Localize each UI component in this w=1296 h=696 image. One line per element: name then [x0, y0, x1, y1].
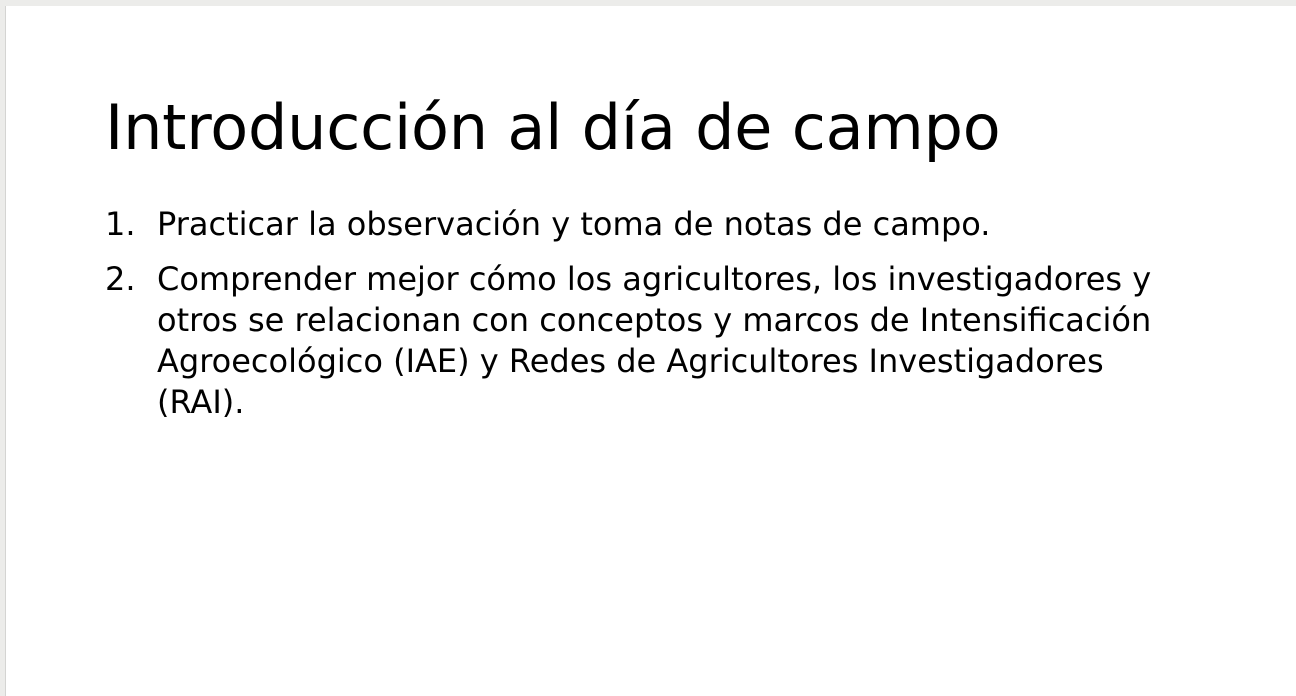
list-item-marker: 1. [105, 204, 145, 245]
list-item: 2. Comprender mejor cómo los agricultore… [105, 259, 1200, 423]
list-item-marker: 2. [105, 259, 145, 300]
slide-canvas[interactable]: Introducción al día de campo 1. Practica… [5, 6, 1296, 696]
list-item: 1. Practicar la observación y toma de no… [105, 204, 1200, 245]
numbered-list: 1. Practicar la observación y toma de no… [105, 204, 1200, 423]
slide-body-placeholder: 1. Practicar la observación y toma de no… [105, 204, 1200, 423]
list-item-label: Comprender mejor cómo los agricultores, … [157, 259, 1200, 423]
page-title: Introducción al día de campo [105, 90, 1205, 166]
list-item-label: Practicar la observación y toma de notas… [157, 204, 1200, 245]
slide-viewport: Introducción al día de campo 1. Practica… [0, 0, 1296, 696]
